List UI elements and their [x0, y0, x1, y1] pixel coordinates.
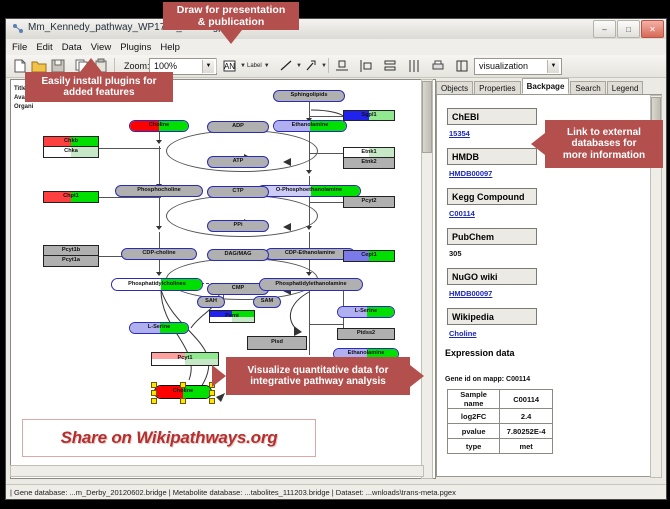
callout-plugins: Easily install plugins for added feature… [25, 72, 173, 102]
cell-sample-name-value: C00114 [500, 390, 553, 409]
cell-log2fc-value: 2.4 [500, 409, 553, 424]
metabolite-node[interactable]: Sphingolipids [273, 90, 345, 102]
node-label: DAG/MAG [223, 252, 252, 258]
gene-node[interactable]: Cept1 [343, 250, 395, 262]
metabolite-node[interactable]: ATP [207, 156, 269, 168]
db-link-hmdb[interactable]: HMDB00097 [449, 169, 492, 178]
callout-links-line3: more information [563, 150, 645, 162]
node-label: Ptdss2 [356, 331, 376, 337]
callout-share: Share on Wikipathways.org [22, 419, 316, 457]
callout-visualize-pointer [212, 365, 226, 387]
node-label: PPi [232, 223, 243, 229]
gene-node[interactable]: Etnk1 [343, 147, 395, 158]
panel-toggle-button[interactable] [454, 57, 470, 75]
gene-node[interactable]: Chpt1 [43, 191, 99, 203]
node-label: Phosphocholine [136, 188, 182, 194]
receptor-icon [303, 58, 319, 74]
metabolite-node[interactable]: Phosphatidylethanolamine [259, 278, 363, 291]
selection-handle[interactable] [180, 382, 186, 388]
distribute-icon [406, 58, 422, 74]
datanode-button[interactable]: AN ▼ [222, 57, 246, 75]
db-link-nugo[interactable]: HMDB00097 [449, 289, 492, 298]
db-header-chebi: ChEBI [447, 108, 537, 125]
node-label: Ethanolamine [347, 351, 386, 357]
callout-links-pointer [531, 133, 545, 155]
callout-visualize-pointer-right [410, 365, 424, 387]
selection-handle[interactable] [151, 390, 157, 396]
panel-icon [454, 58, 470, 74]
db-link-kegg[interactable]: C00114 [449, 209, 475, 218]
node-label: SAH [204, 299, 218, 305]
expression-data-table: Sample name C00114 log2FC 2.4 pvalue 7.8… [447, 389, 553, 454]
node-label: Pisd [270, 340, 284, 346]
window-title-bar: Mm_Kennedy_pathway_WP1771_45176.gpml – □… [6, 19, 666, 40]
cell-type-label: type [448, 439, 500, 454]
node-label: Etnk1 [360, 150, 377, 156]
menu-item-help[interactable]: Help [160, 42, 180, 53]
node-label: SAM [260, 299, 274, 305]
gene-node[interactable]: Pcyt2 [343, 196, 395, 208]
node-label: O-Phosphoethanolamine [275, 188, 343, 194]
node-label: Etnk2 [360, 160, 377, 166]
chevron-down-icon: ▼ [547, 60, 559, 73]
metabolite-node[interactable]: SAM [253, 296, 281, 308]
db-header-kegg: Kegg Compound [447, 188, 537, 205]
align-bottom-icon [334, 58, 350, 74]
label-icon: Label [247, 63, 262, 69]
node-label: Pcyt1 [177, 356, 194, 362]
node-label: Chka [63, 149, 79, 155]
callout-plugins-line2: added features [41, 87, 156, 99]
metabolite-node[interactable]: L-Serine [337, 306, 395, 318]
datanode-icon: AN [222, 58, 238, 74]
table-row: pvalue 7.80252E-4 [448, 424, 553, 439]
distribute-button[interactable] [406, 57, 422, 75]
callout-plugins-line1: Easily install plugins for [41, 76, 156, 88]
node-label: Pcyt2 [361, 199, 378, 205]
table-row: type met [448, 439, 553, 454]
menu-bar: File Edit Data View Plugins Help [6, 39, 667, 56]
db-link-chebi[interactable]: 15354 [449, 129, 470, 138]
align-left-button[interactable] [358, 57, 374, 75]
tab-objects[interactable]: Objects [436, 81, 473, 94]
callout-visualize-line1: Visualize quantitative data for [248, 365, 389, 377]
svg-text:AN: AN [224, 62, 235, 71]
node-label: Pcyt1b [61, 248, 81, 254]
selection-handle[interactable] [209, 390, 215, 396]
metabolite-node[interactable]: Choline [129, 120, 189, 132]
align-bottom-button[interactable] [334, 57, 350, 75]
selection-handle[interactable] [180, 398, 186, 404]
metabolite-node[interactable]: ADP [207, 121, 269, 133]
metabolite-node[interactable]: Ethanolamine [273, 120, 347, 132]
line-button[interactable]: ▼ [278, 57, 302, 75]
node-label: Pemt [224, 314, 240, 320]
receptor-button[interactable]: ▼ [303, 57, 327, 75]
stack-vertical-button[interactable] [382, 57, 398, 75]
chevron-down-icon[interactable]: ▼ [296, 63, 302, 69]
node-label: Cept1 [360, 253, 378, 259]
metabolite-node[interactable]: PPi [207, 220, 269, 232]
gene-node[interactable]: Chka [43, 147, 99, 158]
menu-item-plugins[interactable]: Plugins [120, 42, 151, 53]
db-link-wikipedia[interactable]: Choline [449, 329, 477, 338]
metabolite-node[interactable]: CDP-Ethanolamine [265, 248, 355, 260]
db-header-pubchem: PubChem [447, 228, 537, 245]
node-label: Chkb [63, 139, 79, 145]
chevron-down-icon[interactable]: ▼ [240, 63, 246, 69]
maximize-button[interactable]: □ [617, 20, 640, 38]
screenshot-root: Mm_Kennedy_pathway_WP1771_45176.gpml – □… [0, 0, 670, 509]
cell-pvalue-label: pvalue [448, 424, 500, 439]
node-label: Phosphatidylcholines [127, 282, 187, 288]
cell-pvalue-value: 7.80252E-4 [500, 424, 553, 439]
toolbar-separator-1 [114, 58, 115, 73]
tab-search[interactable]: Search [570, 81, 605, 94]
callout-visualize-line2: integrative pathway analysis [248, 376, 389, 388]
node-label: Choline [172, 389, 195, 395]
node-label: Ethanolamine [291, 123, 330, 129]
chevron-down-icon[interactable]: ▼ [264, 63, 270, 69]
gene-node[interactable]: Pemt [209, 310, 255, 323]
gene-node[interactable]: Pcyt1 [151, 352, 219, 366]
tab-backpage[interactable]: Backpage [522, 78, 570, 94]
close-button[interactable]: ✕ [641, 20, 664, 38]
gene-id-line: Gene id on mapp: C00114 [445, 376, 530, 383]
node-label: Phosphatidylethanolamine [274, 282, 347, 288]
menu-item-file[interactable]: File [12, 42, 27, 53]
node-label: L-Serine [147, 325, 171, 331]
canvas-vertical-scrollbar[interactable] [421, 79, 433, 479]
toolbar-separator-2 [216, 58, 217, 73]
callout-visualize: Visualize quantitative data for integrat… [226, 357, 410, 395]
pathvisio-icon [12, 23, 24, 35]
cell-sample-name-label: Sample name [448, 390, 500, 409]
gene-node[interactable]: Sgpl1 [343, 110, 395, 121]
node-label: Choline [148, 123, 171, 129]
node-label: CDP-choline [141, 251, 176, 257]
tab-legend[interactable]: Legend [607, 81, 644, 94]
gene-node[interactable]: Pisd [247, 336, 307, 350]
metabolite-node[interactable]: CDP-choline [121, 248, 197, 260]
table-row: log2FC 2.4 [448, 409, 553, 424]
node-label: CTP [231, 189, 244, 195]
metabolite-node[interactable]: Phosphocholine [115, 185, 203, 197]
metabolite-node[interactable]: DAG/MAG [207, 249, 269, 261]
menu-item-data[interactable]: Data [62, 42, 82, 53]
line-icon [278, 58, 294, 74]
align-left-icon [358, 58, 374, 74]
tab-properties[interactable]: Properties [474, 81, 520, 94]
metabolite-node[interactable]: Phosphatidylcholines [111, 278, 203, 291]
node-label: L-Serine [354, 309, 378, 315]
node-label: ATP [232, 159, 245, 165]
gene-node[interactable]: Ptdss2 [337, 328, 395, 340]
print-icon [430, 58, 446, 74]
selection-handle[interactable] [151, 398, 157, 404]
callout-links-line2: databases for [563, 138, 645, 150]
minimize-button[interactable]: – [593, 20, 616, 38]
db-header-wikipedia: Wikipedia [447, 308, 537, 325]
status-bar: | Gene database: ...m_Derby_20120602.bri… [6, 484, 667, 499]
gene-node[interactable]: Chkb [43, 136, 99, 147]
gene-node[interactable]: Pcyt1a [43, 256, 99, 267]
callout-draw: Draw for presentation & publication [163, 2, 299, 30]
callout-draw-line1: Draw for presentation [177, 4, 286, 16]
db-value-pubchem: 305 [449, 249, 462, 258]
expression-data-heading: Expression data [445, 348, 515, 358]
metabolite-node[interactable]: CTP [207, 186, 269, 198]
side-panel-tabs: Objects Properties Backpage Search Legen… [436, 79, 662, 95]
gene-node[interactable]: Pcyt1b [43, 245, 99, 256]
stack-vertical-icon [382, 58, 398, 74]
node-label: ADP [231, 124, 245, 130]
node-label: Chpt1 [62, 194, 80, 200]
node-label: CMP [231, 286, 245, 292]
canvas-horizontal-scrollbar[interactable] [10, 465, 424, 477]
zoom-value: 100% [154, 61, 177, 71]
db-header-nugo: NuGO wiki [447, 268, 537, 285]
menu-item-edit[interactable]: Edit [36, 42, 52, 53]
selection-handle[interactable] [209, 398, 215, 404]
window-buttons: – □ ✕ [593, 20, 664, 38]
callout-draw-line2: & publication [177, 16, 286, 28]
table-row: Sample name C00114 [448, 390, 553, 409]
toolbar-separator-3 [328, 58, 329, 73]
db-header-hmdb: HMDB [447, 148, 537, 165]
cell-log2fc-label: log2FC [448, 409, 500, 424]
node-label: Pcyt1a [61, 258, 81, 264]
callout-plugins-pointer [80, 58, 102, 72]
node-label: Sgpl1 [360, 113, 377, 119]
selection-handle[interactable] [151, 382, 157, 388]
callout-draw-pointer [220, 30, 242, 44]
callout-links: Link to external databases for more info… [545, 120, 663, 168]
scroll-thumb[interactable] [422, 81, 432, 153]
node-label: Sphingolipids [290, 93, 329, 99]
chevron-down-icon: ▼ [202, 60, 214, 73]
metabolite-node[interactable]: L-Serine [129, 322, 189, 334]
print-button[interactable] [430, 57, 446, 75]
status-text: | Gene database: ...m_Derby_20120602.bri… [10, 488, 456, 497]
node-label: CDP-Ethanolamine [284, 251, 336, 257]
callout-links-line1: Link to external [563, 127, 645, 139]
label-button[interactable]: Label▼ [247, 57, 270, 75]
visualization-value: visualization [479, 61, 528, 71]
visualization-combo[interactable]: visualization ▼ [474, 57, 562, 75]
cell-type-value: met [500, 439, 553, 454]
menu-item-view[interactable]: View [91, 42, 111, 53]
callout-share-text: Share on Wikipathways.org [61, 428, 278, 448]
chevron-down-icon[interactable]: ▼ [321, 63, 327, 69]
gene-node[interactable]: Etnk2 [343, 158, 395, 169]
metabolite-node[interactable]: SAH [197, 296, 225, 308]
